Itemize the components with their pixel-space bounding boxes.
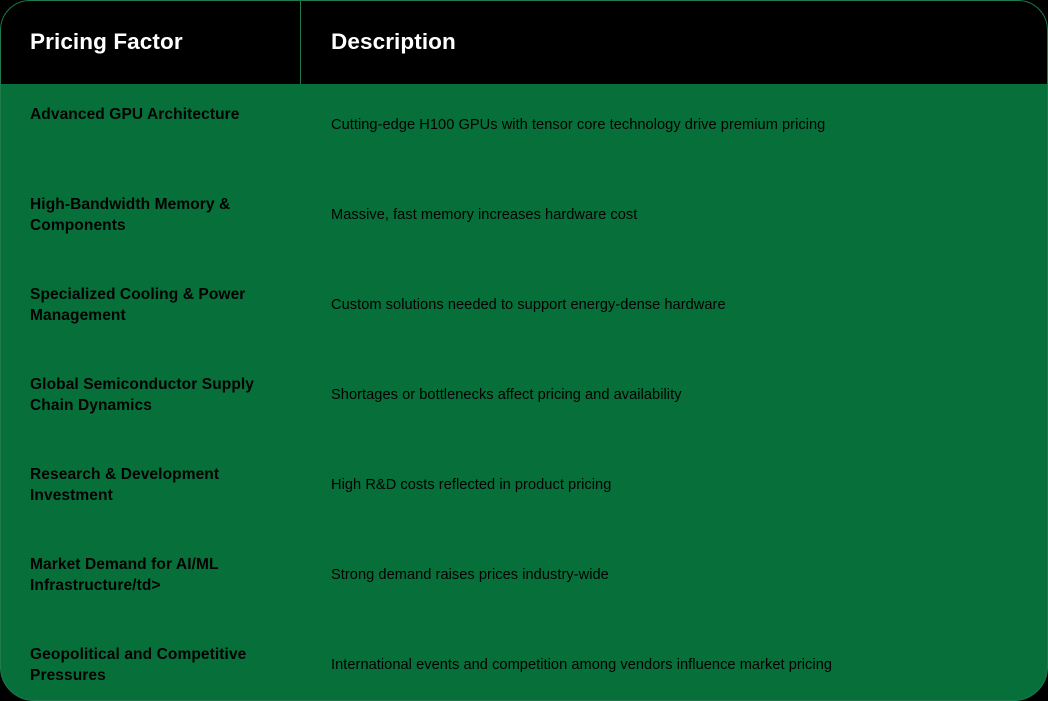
- cell-pricing-factor: Global Semiconductor Supply Chain Dynami…: [30, 354, 292, 416]
- table-row: High-Bandwidth Memory & Components Massi…: [0, 174, 1048, 264]
- table-row: Geopolitical and Competitive Pressures I…: [0, 624, 1048, 701]
- column-header-pricing-factor: Pricing Factor: [30, 0, 183, 84]
- pricing-factors-table: Pricing Factor Description Advanced GPU …: [0, 0, 1048, 701]
- cell-description: Shortages or bottlenecks affect pricing …: [331, 354, 1021, 406]
- table-row: Specialized Cooling & Power Management C…: [0, 264, 1048, 354]
- cell-pricing-factor: Research & Development Investment: [30, 444, 292, 506]
- table-row: Research & Development Investment High R…: [0, 444, 1048, 534]
- cell-description: Massive, fast memory increases hardware …: [331, 174, 1021, 226]
- cell-pricing-factor: Specialized Cooling & Power Management: [30, 264, 292, 326]
- cell-description: International events and competition amo…: [331, 624, 1021, 676]
- cell-description: Strong demand raises prices industry-wid…: [331, 534, 1021, 586]
- table-row: Market Demand for AI/ML Infrastructure/t…: [0, 534, 1048, 624]
- column-divider: [300, 0, 301, 84]
- cell-description: Custom solutions needed to support energ…: [331, 264, 1021, 316]
- table-row: Global Semiconductor Supply Chain Dynami…: [0, 354, 1048, 444]
- cell-pricing-factor: Market Demand for AI/ML Infrastructure/t…: [30, 534, 292, 596]
- cell-description: High R&D costs reflected in product pric…: [331, 444, 1021, 496]
- cell-pricing-factor: High-Bandwidth Memory & Components: [30, 174, 292, 236]
- cell-pricing-factor: Geopolitical and Competitive Pressures: [30, 624, 292, 686]
- table-header-row: Pricing Factor Description: [0, 0, 1048, 84]
- table-body: Advanced GPU Architecture Cutting-edge H…: [0, 84, 1048, 701]
- column-header-description: Description: [331, 0, 456, 84]
- table-row: Advanced GPU Architecture Cutting-edge H…: [0, 84, 1048, 174]
- cell-pricing-factor: Advanced GPU Architecture: [30, 84, 292, 125]
- cell-description: Cutting-edge H100 GPUs with tensor core …: [331, 84, 1021, 136]
